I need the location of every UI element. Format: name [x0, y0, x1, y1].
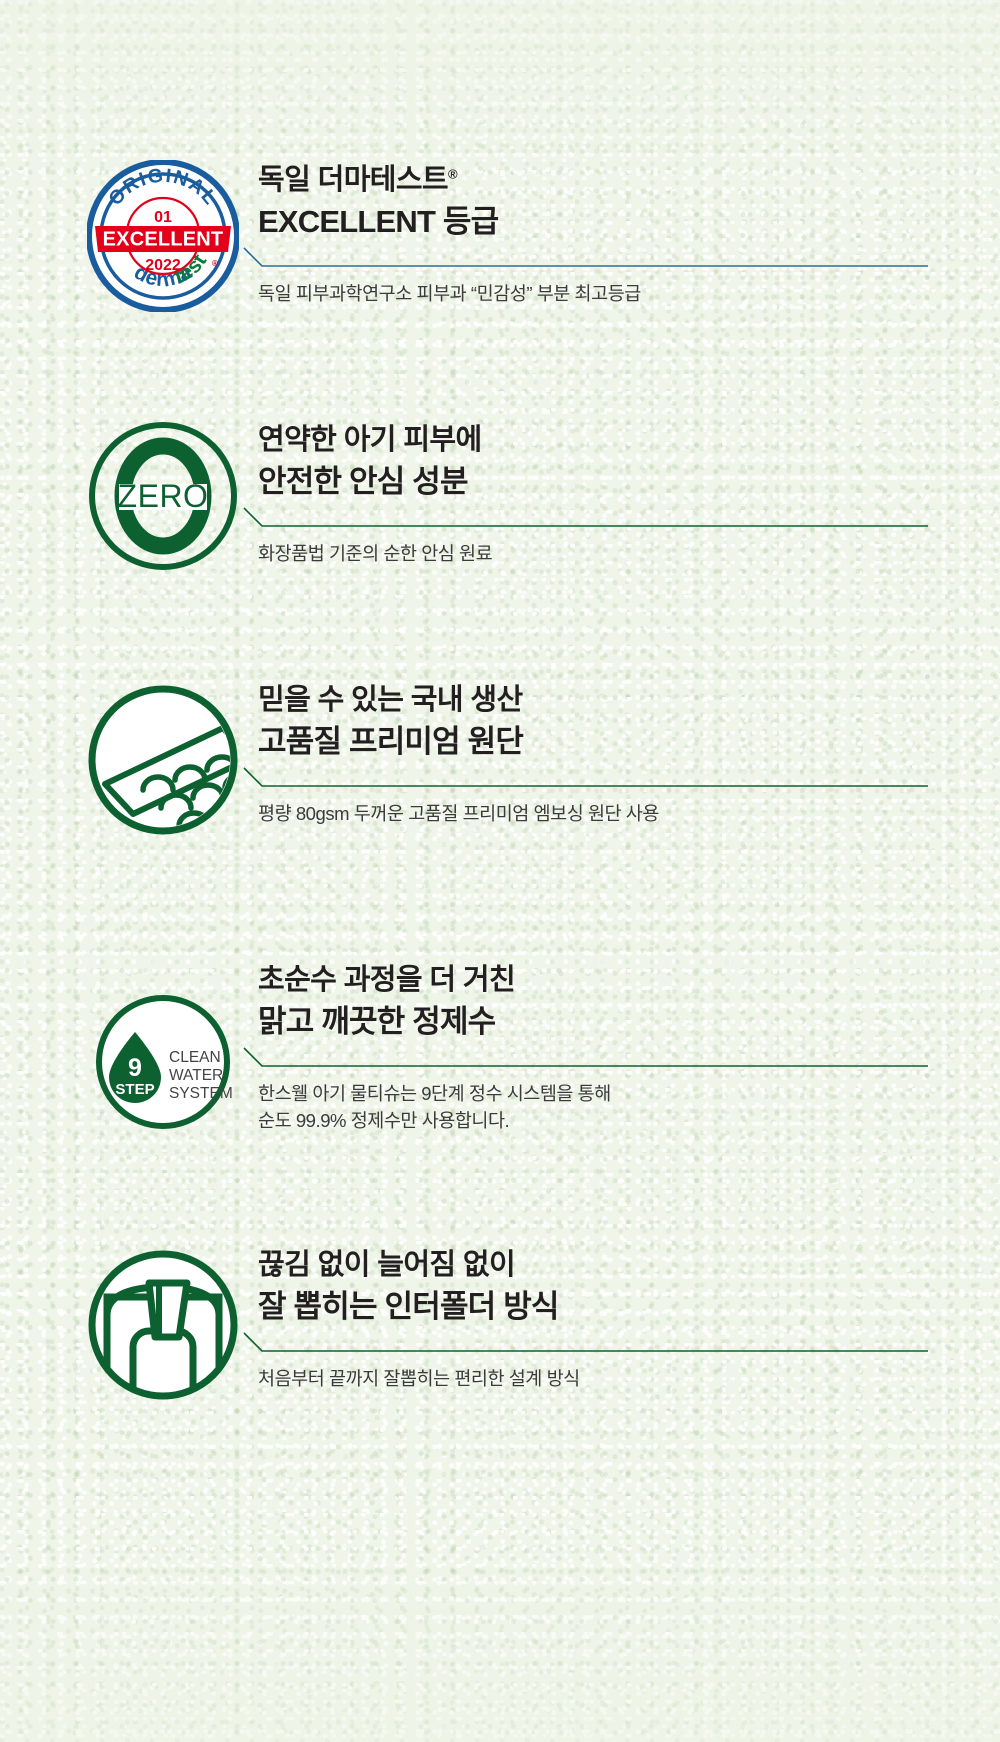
step-label: STEP [115, 1081, 154, 1098]
svg-text:EXCELLENT: EXCELLENT [103, 229, 224, 251]
feature-zero-headline: 연약한 아기 피부에 안전한 안심 성분 [258, 422, 938, 502]
feature-fabric-divider [258, 768, 938, 790]
dermatest-excellent-seal-icon: ORIGINAL derma test 01 EXCELLENT 2022 [87, 160, 239, 312]
feature-zero-ingredients: ZERO 연약한 아기 피부에 안전한 안심 성분 화장품법 기준의 순한 안심… [68, 420, 938, 572]
feature-dermatest-subtext: 독일 피부과학연구소 피부과 “민감성” 부분 최고등급 [258, 280, 938, 307]
feature-interfolder-line2: 잘 뽑히는 인터폴더 방식 [258, 1287, 938, 1327]
registered-mark: ® [448, 166, 457, 181]
feature-water-icon-column: 9 STEP CLEAN WATER SYSTEM [68, 960, 258, 1142]
zero-label: ZERO [118, 478, 209, 514]
feature-dermatest-line2: EXCELLENT 등급 [258, 202, 938, 242]
feature-dermatest-icon-column: ORIGINAL derma test 01 EXCELLENT 2022 [68, 160, 258, 312]
feature-zero-divider [258, 508, 938, 530]
feature-zero-line1: 연약한 아기 피부에 [258, 422, 938, 460]
feature-dermatest-headline: 독일 더마테스트® EXCELLENT 등급 [258, 162, 938, 242]
feature-interfolder-icon-column [68, 1245, 258, 1405]
feature-dermatest-line1: 독일 더마테스트® [258, 162, 938, 200]
feature-interfolder-subtext: 처음부터 끝까지 잘뽑히는 편리한 설계 방식 [258, 1365, 938, 1392]
feature-interfolder-divider [258, 1333, 938, 1355]
feature-fabric-line2: 고품질 프리미엄 원단 [258, 722, 938, 762]
system-line-3: SYSTEM [169, 1085, 233, 1102]
zero-circle-icon: ZERO [87, 420, 239, 572]
feature-interfolder-headline: 끊김 없이 늘어짐 없이 잘 뽑히는 인터폴더 방식 [258, 1247, 938, 1327]
feature-interfolder: 끊김 없이 늘어짐 없이 잘 뽑히는 인터폴더 방식 처음부터 끝까지 잘뽑히는… [68, 1245, 938, 1405]
feature-dermatest-divider [258, 248, 938, 270]
nine-step-water-icon: 9 STEP CLEAN WATER SYSTEM [83, 982, 243, 1142]
feature-zero-line2: 안전한 안심 성분 [258, 462, 938, 502]
feature-water-divider [258, 1048, 938, 1070]
feature-interfolder-line1: 끊김 없이 늘어짐 없이 [258, 1247, 938, 1285]
feature-fabric-subtext: 평량 80gsm 두꺼운 고품질 프리미엄 엠보싱 원단 사용 [258, 800, 938, 827]
feature-water-line1: 초순수 과정을 더 거친 [258, 962, 938, 1000]
system-line-1: CLEAN [169, 1049, 221, 1066]
feature-zero-text-column: 연약한 아기 피부에 안전한 안심 성분 화장품법 기준의 순한 안심 원료 [258, 420, 938, 567]
feature-fabric-icon-column [68, 680, 258, 840]
feature-zero-icon-column: ZERO [68, 420, 258, 572]
feature-water-subtext: 한스웰 아기 물티슈는 9단계 정수 시스템을 통해 순도 99.9% 정제수만… [258, 1080, 938, 1135]
feature-fabric-text-column: 믿을 수 있는 국내 생산 고품질 프리미엄 원단 평량 80gsm 두꺼운 고… [258, 680, 938, 827]
system-line-2: WATER [169, 1067, 223, 1084]
step-number: 9 [128, 1054, 142, 1082]
svg-text:®: ® [212, 259, 218, 268]
svg-text:01: 01 [154, 209, 172, 226]
feature-dermatest: ORIGINAL derma test 01 EXCELLENT 2022 [68, 160, 938, 312]
feature-fabric-headline: 믿을 수 있는 국내 생산 고품질 프리미엄 원단 [258, 682, 938, 762]
feature-interfolder-text-column: 끊김 없이 늘어짐 없이 잘 뽑히는 인터폴더 방식 처음부터 끝까지 잘뽑히는… [258, 1245, 938, 1392]
interfolder-tissue-icon [83, 1245, 243, 1405]
feature-water-text-column: 초순수 과정을 더 거친 맑고 깨끗한 정제수 한스웰 아기 물티슈는 9단계 … [258, 960, 938, 1135]
embossed-fabric-icon [83, 680, 243, 840]
feature-water-line2: 맑고 깨끗한 정제수 [258, 1002, 938, 1042]
product-feature-page: ORIGINAL derma test 01 EXCELLENT 2022 [0, 0, 1000, 1742]
feature-dermatest-text-column: 독일 더마테스트® EXCELLENT 등급 독일 피부과학연구소 피부과 “민… [258, 160, 938, 307]
svg-text:2022: 2022 [145, 257, 181, 274]
feature-fabric-line1: 믿을 수 있는 국내 생산 [258, 682, 938, 720]
feature-zero-subtext: 화장품법 기준의 순한 안심 원료 [258, 540, 938, 567]
feature-premium-fabric: 믿을 수 있는 국내 생산 고품질 프리미엄 원단 평량 80gsm 두꺼운 고… [68, 680, 938, 840]
feature-purified-water: 9 STEP CLEAN WATER SYSTEM 초순수 과정을 더 거친 맑… [68, 960, 938, 1142]
feature-water-headline: 초순수 과정을 더 거친 맑고 깨끗한 정제수 [258, 962, 938, 1042]
